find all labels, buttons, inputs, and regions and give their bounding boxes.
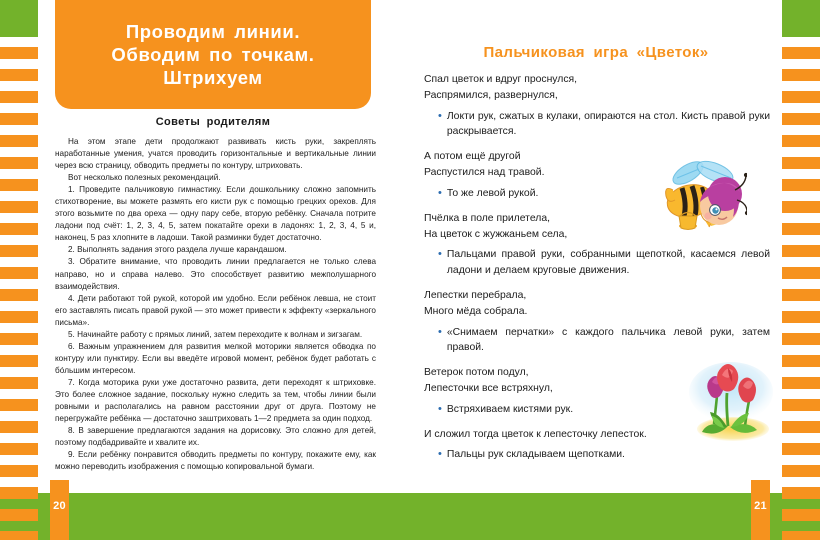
advice-paragraph: 9. Если ребёнку понравится обводить пред…: [55, 449, 376, 473]
verse-block: Лепестки перебрала,Много мёда собрала.: [424, 288, 770, 320]
margin-dash: [0, 509, 38, 521]
instruction-text: Пальцы рук складываем щепотками.: [447, 447, 770, 463]
instruction-text: «Снимаем перчатки» с каждого пальчика ле…: [447, 325, 770, 357]
margin-dash: [0, 443, 38, 455]
advice-paragraph: 5. Начинайте работу с прямых линий, зате…: [55, 329, 376, 341]
instruction-note: •Пальцы рук складываем щепотками.: [438, 447, 770, 463]
title-line: Проводим линии.: [111, 20, 314, 43]
advice-paragraph: 7. Когда моторика руки уже достаточно ра…: [55, 377, 376, 425]
bullet-icon: •: [438, 109, 442, 141]
margin-dash: [0, 421, 38, 433]
margin-dash: [782, 245, 820, 257]
left-page-title: Проводим линии.Обводим по точкам.Штрихуе…: [105, 20, 320, 90]
margin-dash: [782, 267, 820, 279]
advice-paragraph: 1. Проведите пальчиковую гимнастику. Есл…: [55, 184, 376, 244]
verse-block: Спал цветок и вдруг проснулся,Распрямилс…: [424, 72, 770, 104]
margin-dash: [782, 333, 820, 345]
margin-dash: [0, 399, 38, 411]
margin-dash: [0, 223, 38, 235]
right-page-number: 21: [751, 480, 770, 540]
left-page-number: 20: [50, 480, 69, 540]
advice-paragraph: 4. Дети работают той рукой, которой им у…: [55, 293, 376, 329]
margin-dash: [0, 179, 38, 191]
margin-dash: [0, 289, 38, 301]
instruction-note: •Пальцами правой руки, собранными щепотк…: [438, 247, 770, 279]
advice-paragraph: 8. В завершение предлагаются задания на …: [55, 425, 376, 449]
margin-dash: [782, 531, 820, 540]
advice-paragraph: 2. Выполнять задания этого раздела лучше…: [55, 244, 376, 256]
tulips-illustration: [688, 358, 774, 442]
margin-dash: [0, 487, 38, 499]
margin-dash: [0, 113, 38, 125]
instruction-note: •«Снимаем перчатки» с каждого пальчика л…: [438, 325, 770, 357]
advice-paragraph: 3. Обратите внимание, что проводить лини…: [55, 256, 376, 292]
advice-subheading: Советы родителям: [55, 116, 371, 128]
margin-dash: [782, 465, 820, 477]
bullet-icon: •: [438, 186, 442, 202]
bullet-icon: •: [438, 247, 442, 279]
margin-dash: [782, 421, 820, 433]
bullet-icon: •: [438, 325, 442, 357]
left-page-title-plate: Проводим линии.Обводим по точкам.Штрихуе…: [55, 0, 371, 109]
margin-dash: [782, 289, 820, 301]
instruction-note: •Локти рук, сжатых в кулаки, опираются н…: [438, 109, 770, 141]
margin-dash: [782, 399, 820, 411]
advice-paragraph: 6. Важным упражнением для развития мелко…: [55, 341, 376, 377]
margin-dash: [0, 333, 38, 345]
margin-dash: [0, 311, 38, 323]
margin-dash: [782, 355, 820, 367]
margin-dash: [782, 157, 820, 169]
bee-illustration: [655, 148, 747, 243]
margin-dash: [0, 47, 38, 59]
verse-line: Лепестки перебрала,: [424, 288, 770, 304]
margin-dash: [0, 135, 38, 147]
margin-dash: [0, 377, 38, 389]
book-spread: Проводим линии.Обводим по точкам.Штрихуе…: [0, 0, 820, 540]
margin-dash: [782, 47, 820, 59]
finger-game-heading: Пальчиковая игра «Цветок»: [422, 44, 770, 61]
margin-dash: [782, 201, 820, 213]
verse-line: Спал цветок и вдруг проснулся,: [424, 72, 770, 88]
title-line: Штрихуем: [111, 66, 314, 89]
instruction-text: Пальцами правой руки, собранными щепотко…: [447, 247, 770, 279]
bullet-icon: •: [438, 402, 442, 418]
advice-paragraph: На этом этапе дети продолжают развивать …: [55, 136, 376, 172]
title-line: Обводим по точкам.: [111, 43, 314, 66]
margin-dash: [782, 69, 820, 81]
margin-dash: [782, 179, 820, 191]
margin-dash: [0, 157, 38, 169]
margin-dash: [782, 311, 820, 323]
advice-paragraph: Вот несколько полезных рекомендаций.: [55, 172, 376, 184]
margin-dash: [0, 91, 38, 103]
right-margin-dashes: [782, 47, 820, 540]
margin-dash: [782, 113, 820, 125]
margin-dash: [0, 69, 38, 81]
margin-dash: [0, 267, 38, 279]
verse-line: Распрямился, развернулся,: [424, 88, 770, 104]
bullet-icon: •: [438, 447, 442, 463]
margin-dash: [0, 465, 38, 477]
advice-body: На этом этапе дети продолжают развивать …: [55, 136, 376, 473]
margin-dash: [782, 91, 820, 103]
verse-line: Много мёда собрала.: [424, 304, 770, 320]
margin-dash: [782, 443, 820, 455]
margin-dash: [0, 201, 38, 213]
left-page: Проводим линии.Обводим по точкам.Штрихуе…: [38, 0, 410, 493]
margin-dash: [0, 531, 38, 540]
margin-dash: [0, 355, 38, 367]
margin-dash: [782, 223, 820, 235]
left-margin-dashes: [0, 47, 38, 540]
margin-dash: [782, 487, 820, 499]
instruction-text: Локти рук, сжатых в кулаки, опираются на…: [447, 109, 770, 141]
green-band-bottom: [0, 493, 820, 540]
margin-dash: [782, 135, 820, 147]
margin-dash: [0, 245, 38, 257]
margin-dash: [782, 509, 820, 521]
margin-dash: [782, 377, 820, 389]
